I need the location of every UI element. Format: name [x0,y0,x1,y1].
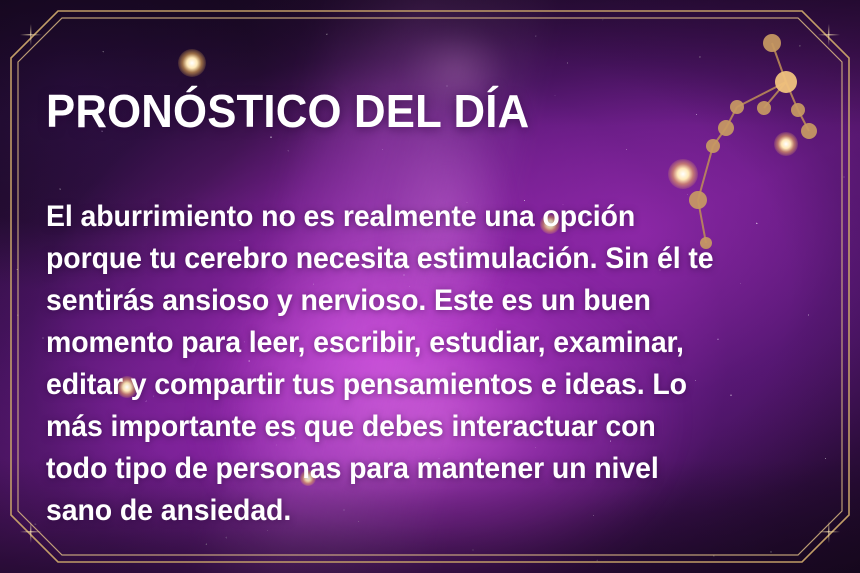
body-line: todo tipo de personas para mantener un n… [46,448,779,490]
horoscope-body-text: El aburrimiento no es realmente una opci… [46,196,779,532]
poster-content: PRONÓSTICO DEL DÍA El aburrimiento no es… [46,0,836,573]
body-line: sano de ansiedad. [46,490,779,532]
body-line: El aburrimiento no es realmente una opci… [46,196,779,238]
body-line: editar y compartir tus pensamientos e id… [46,364,779,406]
body-line: sentirás ansioso y nervioso. Este es un … [46,280,779,322]
body-line: más importante es que debes interactuar … [46,406,779,448]
page-title: PRONÓSTICO DEL DÍA [46,88,529,134]
body-line: porque tu cerebro necesita estimulación.… [46,238,779,280]
body-line: momento para leer, escribir, estudiar, e… [46,322,779,364]
horoscope-poster: PRONÓSTICO DEL DÍA El aburrimiento no es… [0,0,860,573]
